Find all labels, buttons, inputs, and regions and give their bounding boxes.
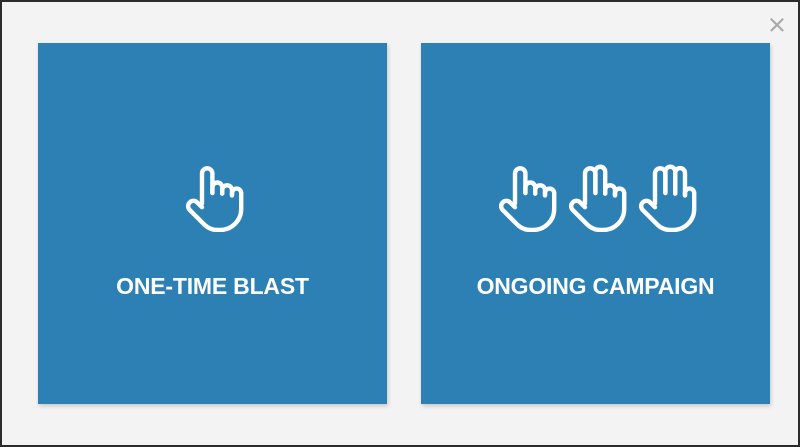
ongoing-campaign-icon-group: [421, 160, 770, 232]
hand-one-finger-icon: [182, 162, 244, 232]
hand-one-finger-icon: [495, 162, 557, 232]
option-card-ongoing-campaign[interactable]: ONGOING CAMPAIGN: [421, 43, 770, 404]
hand-three-fingers-icon: [635, 162, 697, 232]
hand-two-fingers-icon: [565, 162, 627, 232]
campaign-type-options: ONE-TIME BLAST: [38, 43, 770, 404]
one-time-blast-icon-group: [38, 160, 387, 232]
campaign-type-dialog: ONE-TIME BLAST: [0, 0, 800, 447]
option-label-one-time-blast: ONE-TIME BLAST: [38, 271, 387, 301]
option-card-one-time-blast[interactable]: ONE-TIME BLAST: [38, 43, 387, 404]
option-label-ongoing-campaign: ONGOING CAMPAIGN: [421, 271, 770, 301]
close-icon: [767, 14, 787, 34]
close-dialog-button[interactable]: [764, 11, 790, 37]
